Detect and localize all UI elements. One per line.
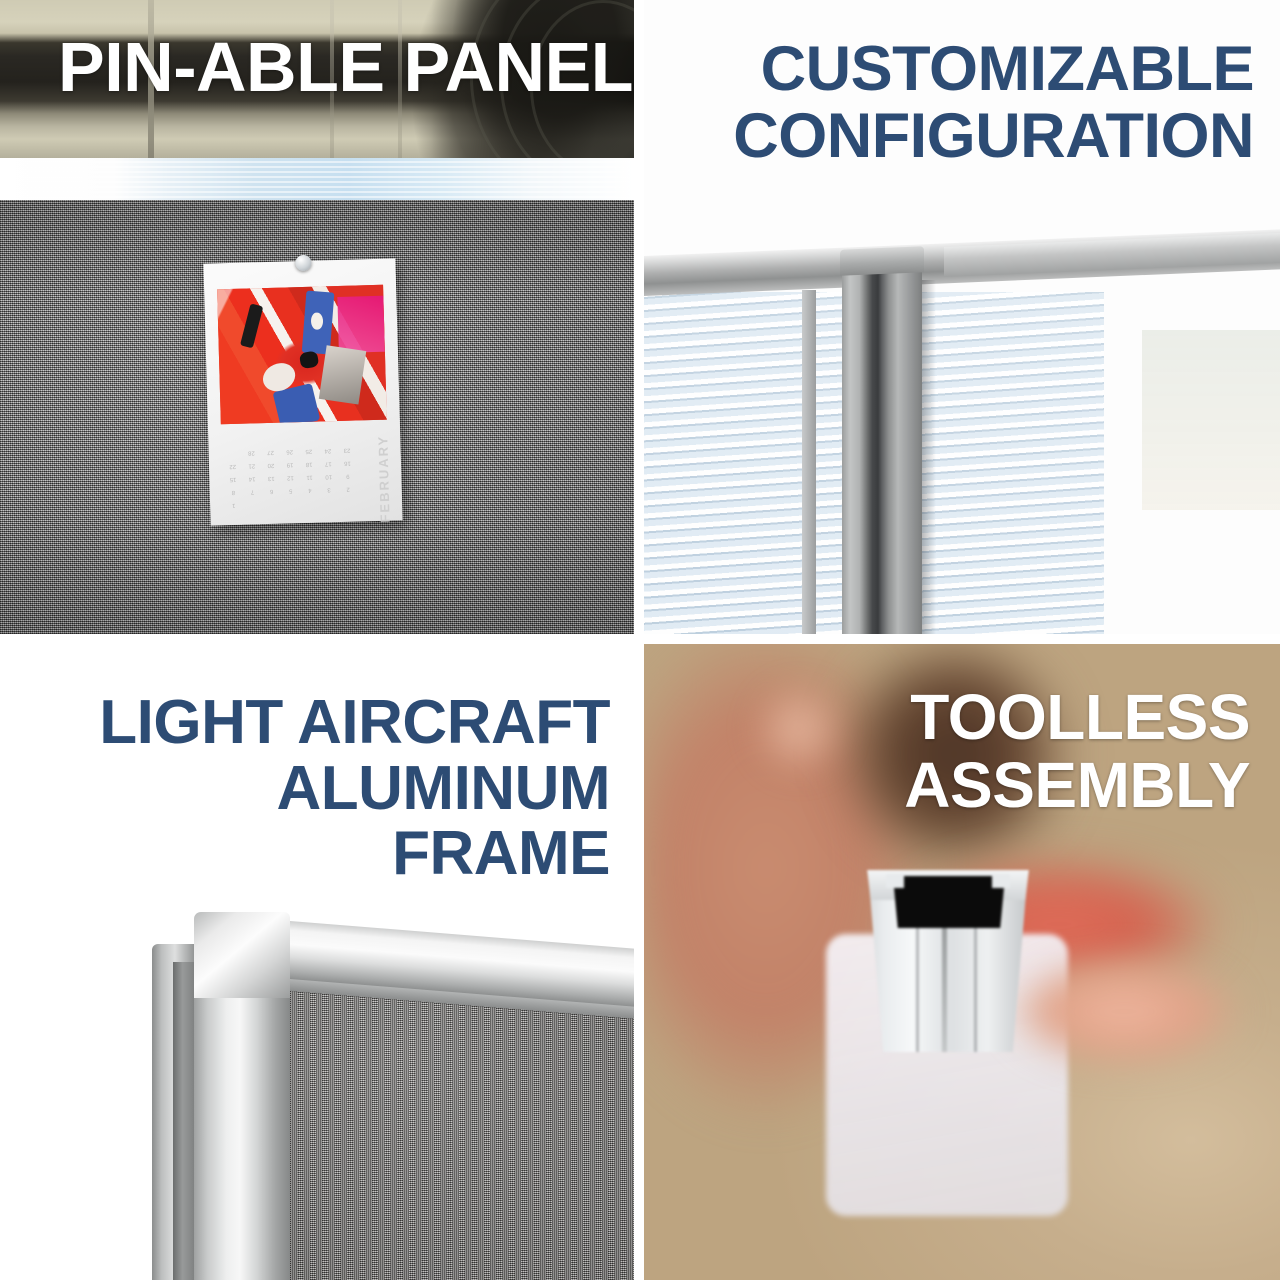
- left-frame-edge: [802, 290, 816, 634]
- calendar-artwork: [217, 285, 387, 425]
- calendar-day-cell: 8: [224, 485, 243, 499]
- panel-customizable-configuration: CUSTOMIZABLE CONFIGURATION: [644, 0, 1280, 634]
- calendar-day-cell: 20: [261, 458, 280, 472]
- calendar-day-cell: 28: [242, 445, 261, 459]
- vertical-connector-post: [842, 264, 922, 634]
- headline-toolless-assembly: TOOLLESS ASSEMBLY: [690, 684, 1250, 820]
- headline-pin-able-panel: PIN-ABLE PANEL: [58, 30, 634, 104]
- frame-corner-block: [194, 912, 290, 998]
- calendar-day-cell: 17: [319, 456, 338, 470]
- fabric-insert-panel: [288, 988, 634, 1280]
- calendar-day-cell: [262, 497, 281, 511]
- light-reflection-band: [0, 158, 634, 200]
- headline-customizable-configuration: CUSTOMIZABLE CONFIGURATION: [674, 36, 1254, 170]
- calendar-day-cell: 12: [281, 470, 300, 484]
- extrusion-notch-left: [886, 874, 904, 888]
- calendar-day-cell: 6: [262, 484, 281, 498]
- calendar-day-cell: 19: [280, 457, 299, 471]
- pinned-calendar: 1234567891011121314151617181920212223242…: [203, 258, 402, 525]
- push-pin-icon: [295, 255, 311, 271]
- calendar-day-cell: [320, 495, 339, 509]
- calendar-day-cell: 11: [300, 470, 319, 484]
- calendar-day-cell: 23: [337, 443, 356, 457]
- extrusion-seam: [916, 928, 919, 1052]
- panel-light-aircraft-aluminum-frame: LIGHT AIRCRAFT ALUMINUM FRAME: [0, 644, 634, 1280]
- calendar-day-cell: 15: [223, 472, 242, 486]
- calendar-day-cell: 5: [281, 483, 300, 497]
- calendar-day-cell: 18: [299, 457, 318, 471]
- calendar-day-cell: 22: [223, 459, 242, 473]
- calendar-day-cell: [222, 446, 241, 460]
- calendar-day-cell: 9: [338, 469, 357, 483]
- calendar-day-cell: 21: [242, 458, 261, 472]
- aluminum-extrusion-profile: [858, 862, 1038, 1052]
- extrusion-seam: [974, 928, 977, 1052]
- calendar-day-cell: 26: [280, 444, 299, 458]
- calendar-day-grid: 1234567891011121314151617181920212223242…: [222, 436, 358, 512]
- calendar-day-cell: 24: [318, 443, 337, 457]
- calendar-day-cell: 4: [300, 483, 319, 497]
- front-aluminum-post: [194, 974, 290, 1280]
- post-cap: [840, 246, 924, 276]
- feature-grid-sheet: 1234567891011121314151617181920212223242…: [0, 0, 1280, 1280]
- window-view-tint: [1142, 330, 1280, 510]
- calendar-day-cell: 2: [338, 482, 357, 496]
- headline-light-aircraft-aluminum-frame: LIGHT AIRCRAFT ALUMINUM FRAME: [30, 690, 610, 887]
- calendar-day-cell: [243, 497, 262, 511]
- calendar-day-cell: [300, 496, 319, 510]
- panel-toolless-assembly: TOOLLESS ASSEMBLY: [644, 644, 1280, 1280]
- calendar-day-cell: 14: [242, 471, 261, 485]
- panel-pin-able-panel: 1234567891011121314151617181920212223242…: [0, 0, 634, 634]
- extrusion-center-seam: [942, 928, 947, 1052]
- calendar-day-cell: [339, 495, 358, 509]
- calendar-day-cell: 1: [224, 498, 243, 512]
- calendar-day-cell: 13: [261, 471, 280, 485]
- calendar-day-cell: 10: [319, 469, 338, 483]
- calendar-day-cell: 27: [261, 445, 280, 459]
- calendar-day-cell: [281, 496, 300, 510]
- calendar-day-cell: 25: [299, 444, 318, 458]
- calendar-month-label: FEBRUARY: [375, 435, 392, 523]
- calendar-day-cell: 16: [338, 456, 357, 470]
- calendar-day-cell: 3: [319, 482, 338, 496]
- extrusion-notch-right: [992, 874, 1010, 888]
- calendar-day-cell: 7: [243, 484, 262, 498]
